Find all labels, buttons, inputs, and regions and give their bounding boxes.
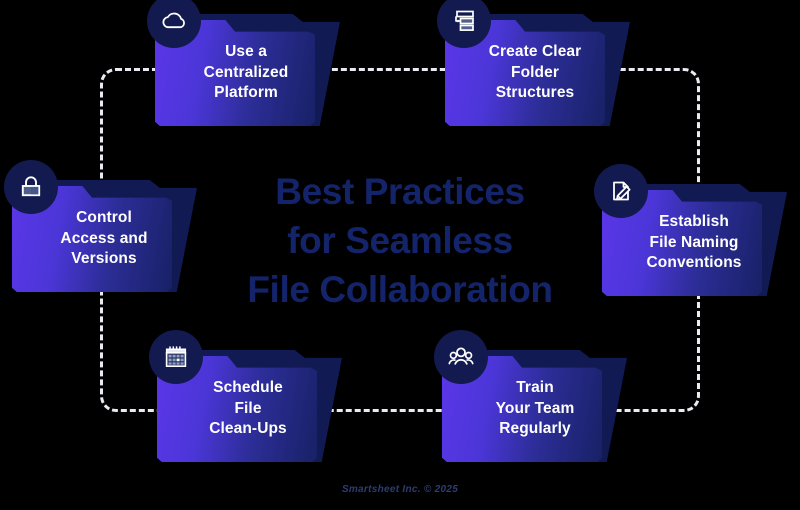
card-label-line-1: Use a (204, 42, 289, 63)
people-group-icon (446, 342, 476, 372)
card-label-line-1: Train (496, 378, 575, 399)
card-label-line-3: Platform (204, 83, 289, 104)
card-label-line-2: Centralized (204, 63, 289, 84)
card-badge (4, 160, 58, 214)
card-train-your-team-regularly[interactable]: Train Your Team Regularly (442, 342, 627, 462)
card-schedule-file-clean-ups[interactable]: Schedule File Clean-Ups (157, 342, 342, 462)
page-title-line-3: File Collaboration (200, 266, 600, 315)
lock-icon (16, 172, 46, 202)
calendar-icon (161, 342, 191, 372)
infographic-canvas: Best Practices for Seamless File Collabo… (0, 0, 800, 510)
cloud-icon (159, 6, 189, 36)
page-title: Best Practices for Seamless File Collabo… (200, 168, 600, 314)
card-label-line-2: Your Team (496, 399, 575, 420)
card-create-clear-folder-structures[interactable]: Create Clear Folder Structures (445, 6, 630, 126)
document-pencil-icon (606, 176, 636, 206)
card-label-line-1: Control (60, 208, 147, 229)
card-label-line-2: File Naming (647, 233, 742, 254)
page-title-line-1: Best Practices (200, 168, 600, 217)
card-label-line-2: Access and (60, 229, 147, 250)
card-badge (149, 330, 203, 384)
folder-structure-icon (449, 6, 479, 36)
card-use-centralized-platform[interactable]: Use a Centralized Platform (155, 6, 340, 126)
card-control-access-and-versions[interactable]: Control Access and Versions (12, 172, 197, 292)
card-label-line-3: Conventions (647, 253, 742, 274)
card-label-line-1: Establish (647, 212, 742, 233)
card-label-line-3: Regularly (496, 419, 575, 440)
page-title-line-2: for Seamless (200, 217, 600, 266)
footer-copyright: Smartsheet Inc. © 2025 (0, 484, 800, 495)
card-label-line-1: Schedule (209, 378, 287, 399)
card-label-line-2: Folder (489, 63, 582, 84)
card-label-line-3: Structures (489, 83, 582, 104)
card-badge (434, 330, 488, 384)
card-establish-file-naming-conventions[interactable]: Establish File Naming Conventions (602, 176, 787, 296)
card-label-line-2: File (209, 399, 287, 420)
card-label-line-3: Clean-Ups (209, 419, 287, 440)
card-badge (594, 164, 648, 218)
card-label-line-1: Create Clear (489, 42, 582, 63)
card-label-line-3: Versions (60, 249, 147, 270)
